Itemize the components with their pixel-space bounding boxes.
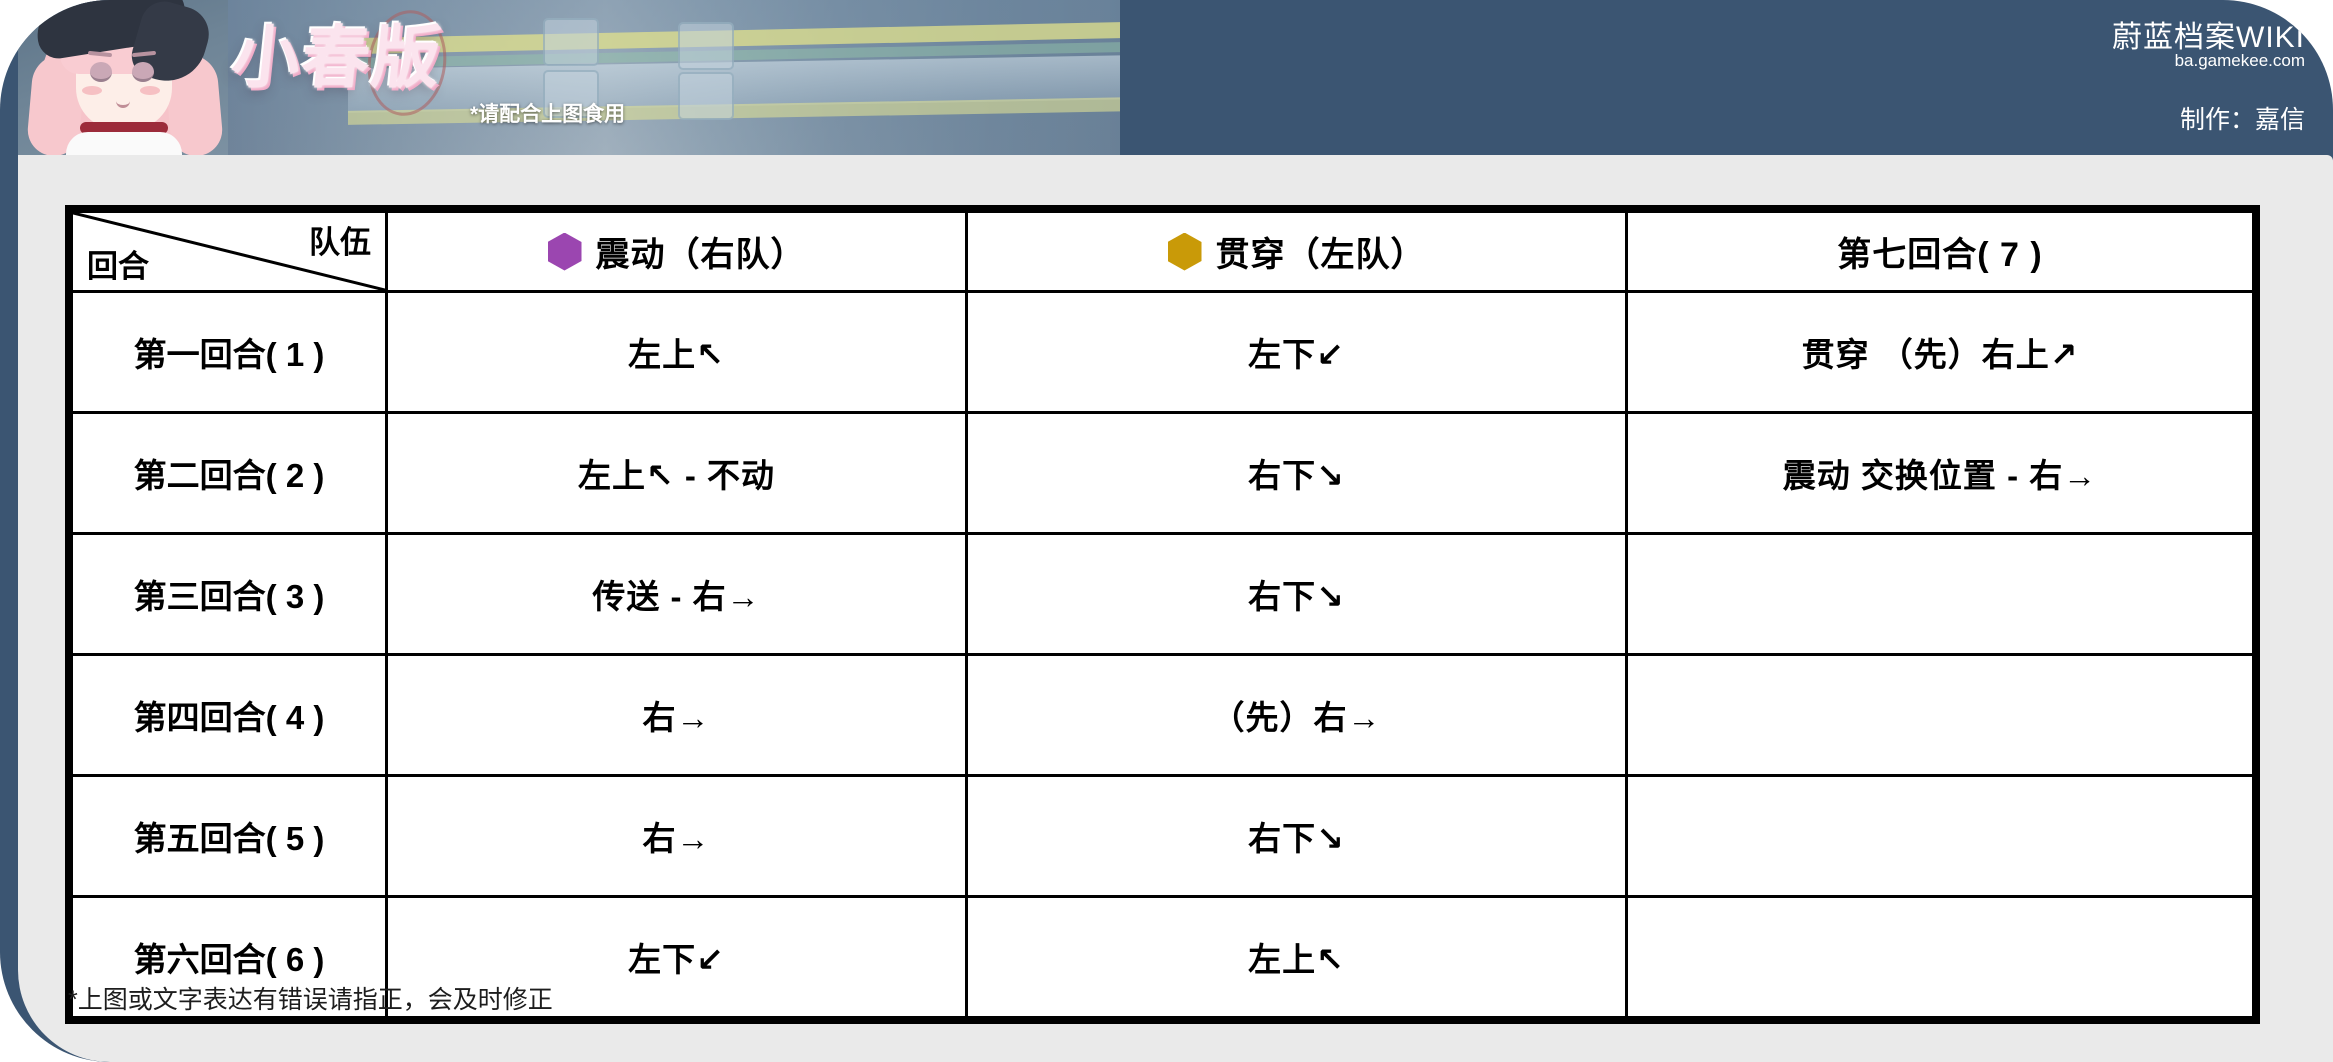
wiki-url: ba.gamekee.com <box>2112 52 2305 71</box>
table-row: 第一回合( 1 ) 左上↖ 左下↙ 贯穿 （先）右上↗ <box>72 292 2254 413</box>
table-row: 第二回合( 2 ) 左上↖ - 不动 右下↘ 震动 交换位置 - 右→ <box>72 413 2254 534</box>
cell-value: 左下↙ <box>1248 336 1345 373</box>
character-eye <box>132 62 154 82</box>
column-header-penetration: 贯穿（左队） <box>967 212 1627 292</box>
column-header-round-seven: 第七回合( 7 ) <box>1627 212 2254 292</box>
cell-penetration: 左上↖ <box>967 897 1627 1018</box>
cell-penetration: （先）右→ <box>967 655 1627 776</box>
cell-penetration: 右下↘ <box>967 776 1627 897</box>
photo-sign <box>678 72 734 120</box>
content-panel: 队伍 回合 震动（右队） <box>18 155 2333 1062</box>
character-portrait <box>18 0 228 155</box>
corner-label-team: 队伍 <box>309 217 371 262</box>
wiki-name: 蔚蓝档案WIKI <box>2112 22 2305 54</box>
corner-header-cell: 队伍 回合 <box>72 212 387 292</box>
cell-value: 传送 - 右→ <box>592 578 760 615</box>
cell-round-seven: 震动 交换位置 - 右→ <box>1627 413 2254 534</box>
cell-round-seven <box>1627 897 2254 1018</box>
cell-value: 左下↙ <box>628 941 725 978</box>
photo-sign <box>543 18 599 66</box>
cell-value: 左上↖ - 不动 <box>578 457 775 494</box>
hero-banner: 小春版 *请配合上图食用 蔚蓝档案WIKI ba.gamekee.com 制作：… <box>0 0 2333 155</box>
cell-value: 右下↘ <box>1248 457 1345 494</box>
column-header-label: 震动（右队） <box>596 227 806 276</box>
cell-value: 右下↘ <box>1248 820 1345 857</box>
round-label: 第二回合( 2 ) <box>134 457 325 494</box>
table-row: 第三回合( 3 ) 传送 - 右→ 右下↘ <box>72 534 2254 655</box>
rotation-table-wrapper: 队伍 回合 震动（右队） <box>70 210 2252 1019</box>
cell-round-seven <box>1627 655 2254 776</box>
table-header-row: 队伍 回合 震动（右队） <box>72 212 2254 292</box>
hexagon-icon <box>548 233 582 271</box>
round-label-cell: 第二回合( 2 ) <box>72 413 387 534</box>
character-eye <box>90 62 112 82</box>
column-header-vibration: 震动（右队） <box>387 212 967 292</box>
screenshot-root: 小春版 *请配合上图食用 蔚蓝档案WIKI ba.gamekee.com 制作：… <box>0 0 2333 1062</box>
cell-round-seven <box>1627 534 2254 655</box>
photo-sign <box>678 22 734 70</box>
character-blush <box>82 86 102 95</box>
cell-vibration: 左上↖ - 不动 <box>387 413 967 534</box>
cell-vibration: 右→ <box>387 776 967 897</box>
cell-vibration: 左上↖ <box>387 292 967 413</box>
round-label-cell: 第五回合( 5 ) <box>72 776 387 897</box>
round-label-cell: 第四回合( 4 ) <box>72 655 387 776</box>
column-header-label: 第七回合( 7 ) <box>1837 227 2042 276</box>
round-label: 第六回合( 6 ) <box>134 941 325 978</box>
banner-title: 小春版 <box>228 24 445 92</box>
character-body <box>66 132 182 155</box>
hexagon-icon <box>1168 233 1202 271</box>
round-label: 第三回合( 3 ) <box>134 578 325 615</box>
cell-value: 震动 交换位置 - 右→ <box>1783 457 2098 494</box>
character-blush <box>140 86 160 95</box>
cell-value: 贯穿 （先）右上↗ <box>1802 336 2079 373</box>
corner-label-round: 回合 <box>87 241 149 286</box>
table-row: 第五回合( 5 ) 右→ 右下↘ <box>72 776 2254 897</box>
round-label: 第四回合( 4 ) <box>134 699 325 736</box>
round-label: 第一回合( 1 ) <box>134 336 325 373</box>
round-label-cell: 第三回合( 3 ) <box>72 534 387 655</box>
cell-round-seven <box>1627 776 2254 897</box>
wiki-branding: 蔚蓝档案WIKI ba.gamekee.com <box>2112 22 2305 70</box>
cell-value: （先）右→ <box>1212 699 1382 736</box>
round-label-cell: 第一回合( 1 ) <box>72 292 387 413</box>
footnote: *上图或文字表达有错误请指正，会及时修正 <box>68 980 553 1016</box>
cell-penetration: 左下↙ <box>967 292 1627 413</box>
banner-subtitle: *请配合上图食用 <box>470 98 625 128</box>
cell-round-seven: 贯穿 （先）右上↗ <box>1627 292 2254 413</box>
cell-value: 右下↘ <box>1248 578 1345 615</box>
author-credit: 制作：嘉信 <box>2180 100 2305 136</box>
round-label: 第五回合( 5 ) <box>134 820 325 857</box>
cell-value: 右→ <box>643 699 711 736</box>
table-row: 第四回合( 4 ) 右→ （先）右→ <box>72 655 2254 776</box>
cell-value: 左上↖ <box>628 336 725 373</box>
cell-penetration: 右下↘ <box>967 413 1627 534</box>
cell-vibration: 右→ <box>387 655 967 776</box>
cell-value: 左上↖ <box>1248 941 1345 978</box>
cell-value: 右→ <box>643 820 711 857</box>
column-header-label: 贯穿（左队） <box>1216 227 1426 276</box>
rotation-table: 队伍 回合 震动（右队） <box>70 210 2255 1019</box>
cell-vibration: 传送 - 右→ <box>387 534 967 655</box>
cell-penetration: 右下↘ <box>967 534 1627 655</box>
outer-frame: 小春版 *请配合上图食用 蔚蓝档案WIKI ba.gamekee.com 制作：… <box>0 0 2333 1062</box>
